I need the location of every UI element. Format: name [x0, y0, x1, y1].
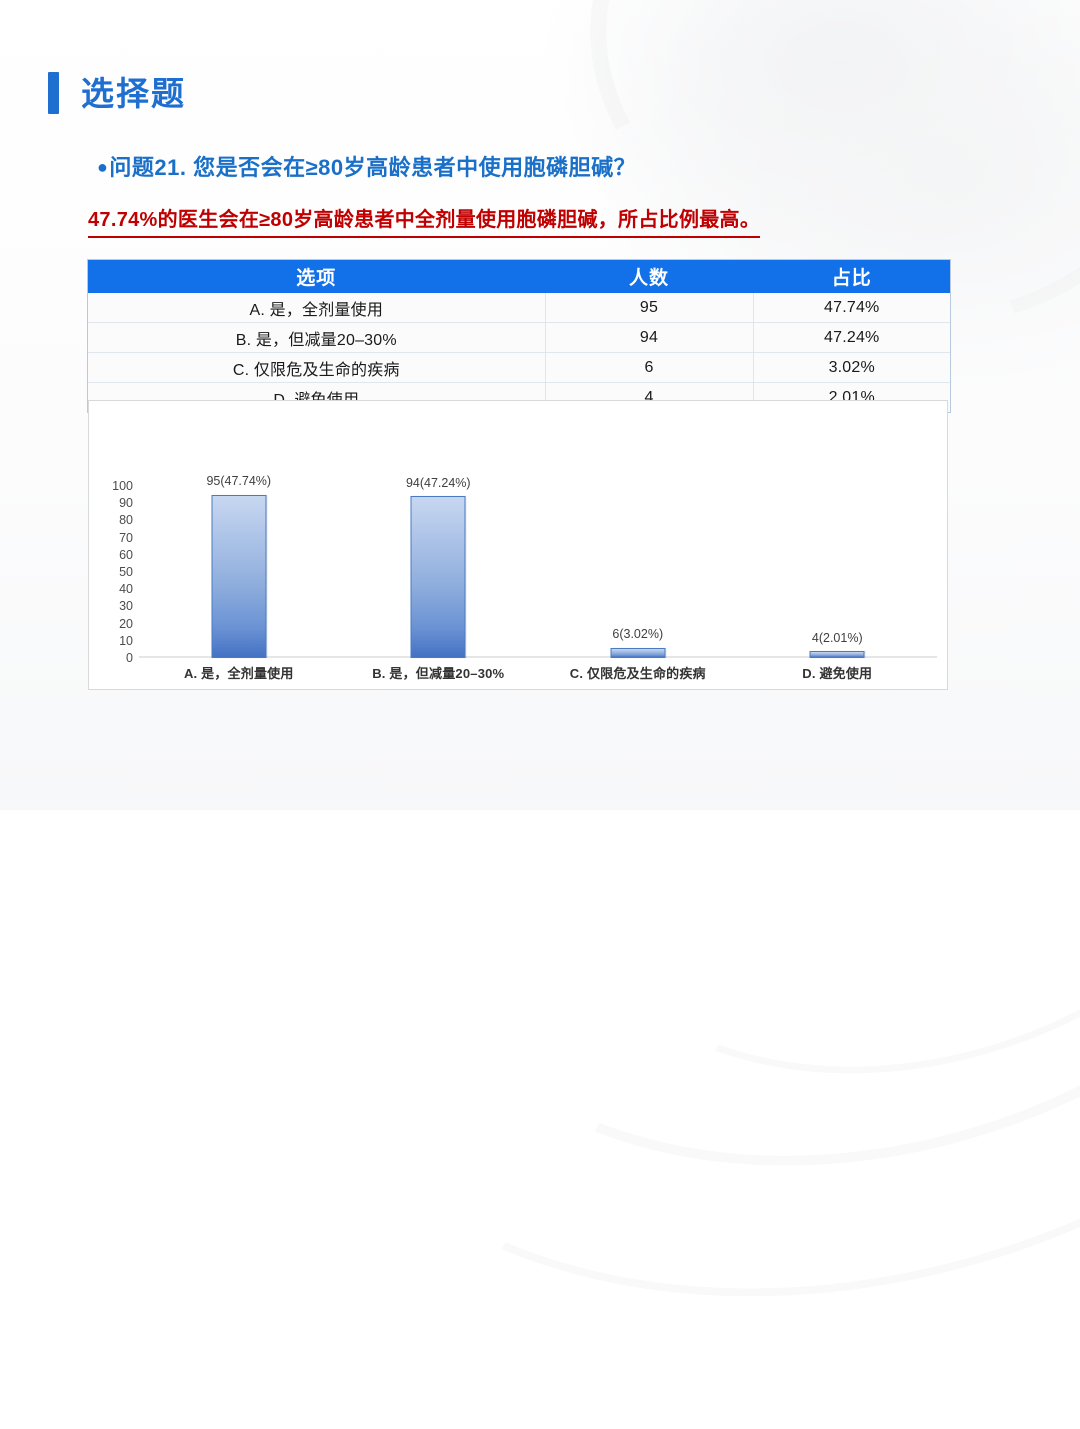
y-axis-tick: 80	[119, 514, 133, 527]
cell-option: B. 是，但减量20–30%	[88, 323, 545, 353]
x-axis-label: B. 是，但减量20–30%	[339, 663, 539, 682]
bar-data-label: 4(2.01%)	[812, 632, 863, 645]
bar-slot: 6(3.02%)	[538, 486, 738, 658]
bar-slot: 94(47.24%)	[339, 486, 539, 658]
x-axis-label: D. 避免使用	[738, 663, 938, 682]
y-axis-tick: 40	[119, 583, 133, 596]
plot-area: 95(47.74%) 94(47.24%) 6(3.02%) 4(2.01%)	[139, 486, 937, 658]
chart-plot-region: 1009080706050403020100 95(47.74%) 94(47.…	[89, 401, 947, 689]
question-heading: ●问题21. 您是否会在≥80岁高龄患者中使用胞磷胆碱？	[97, 150, 636, 182]
cell-count: 95	[545, 293, 753, 323]
cell-percent: 47.24%	[753, 323, 950, 353]
conclusion-text: 47.74%的医生会在≥80岁高龄患者中全剂量使用胞磷胆碱，所占比例最高。	[88, 203, 760, 238]
x-axis-label: C. 仅限危及生命的疾病	[538, 663, 738, 682]
y-axis: 1009080706050403020100	[97, 486, 133, 658]
table-row: C. 仅限危及生命的疾病 6 3.02%	[88, 353, 950, 383]
bar-data-label: 94(47.24%)	[406, 477, 471, 490]
y-axis-tick: 0	[126, 652, 133, 665]
bar-chart-panel: 1009080706050403020100 95(47.74%) 94(47.…	[88, 400, 948, 690]
bar-series-d	[810, 651, 865, 658]
bullet-icon: ●	[97, 157, 108, 177]
table-row: A. 是，全剂量使用 95 47.74%	[88, 293, 950, 323]
results-table: 选项 人数 占比 A. 是，全剂量使用 95 47.74% B. 是，但减量20…	[88, 260, 950, 412]
y-axis-tick: 100	[112, 480, 133, 493]
bar-data-label: 6(3.02%)	[612, 628, 663, 641]
bar-series-a	[211, 495, 266, 658]
column-header-count: 人数	[545, 260, 753, 293]
y-axis-tick: 90	[119, 497, 133, 510]
cell-option: C. 仅限危及生命的疾病	[88, 353, 545, 383]
cell-percent: 47.74%	[753, 293, 950, 323]
cell-count: 94	[545, 323, 753, 353]
x-axis-labels: A. 是，全剂量使用 B. 是，但减量20–30% C. 仅限危及生命的疾病 D…	[139, 663, 937, 683]
column-header-percent: 占比	[753, 260, 950, 293]
section-title: 选择题	[48, 72, 186, 114]
bar-data-label: 95(47.74%)	[206, 475, 271, 488]
bar-series-c	[610, 648, 665, 658]
y-axis-tick: 20	[119, 617, 133, 630]
cell-count: 6	[545, 353, 753, 383]
table-header-row: 选项 人数 占比	[88, 260, 950, 293]
y-axis-tick: 30	[119, 600, 133, 613]
y-axis-tick: 70	[119, 531, 133, 544]
title-accent-bar	[48, 72, 59, 114]
bar-slot: 95(47.74%)	[139, 486, 339, 658]
section-title-text: 选择题	[81, 77, 186, 110]
question-text: 问题21. 您是否会在≥80岁高龄患者中使用胞磷胆碱？	[109, 155, 636, 180]
y-axis-tick: 10	[119, 635, 133, 648]
bar-series-b	[411, 496, 466, 658]
y-axis-tick: 60	[119, 549, 133, 562]
table-row: B. 是，但减量20–30% 94 47.24%	[88, 323, 950, 353]
bar-slot: 4(2.01%)	[738, 486, 938, 658]
cell-percent: 3.02%	[753, 353, 950, 383]
cell-option: A. 是，全剂量使用	[88, 293, 545, 323]
column-header-option: 选项	[88, 260, 545, 293]
y-axis-tick: 50	[119, 566, 133, 579]
x-axis-label: A. 是，全剂量使用	[139, 663, 339, 682]
